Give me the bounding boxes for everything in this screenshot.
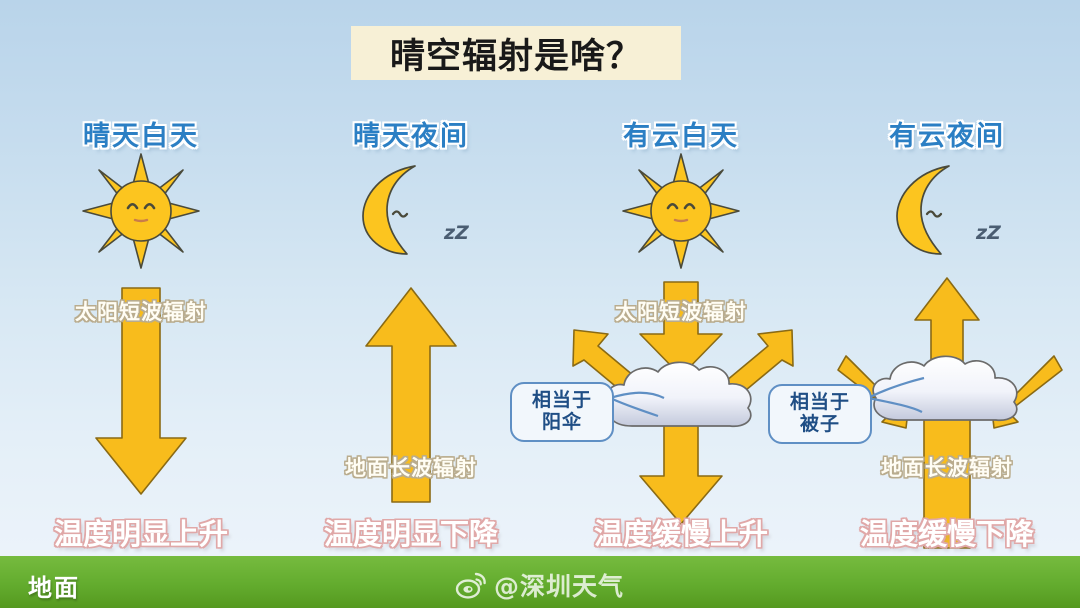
scenario-column-clear-day: 晴天白天 太阳短波辐射 温度明显上升: [6, 100, 276, 555]
page-title: 晴空辐射是啥？: [390, 28, 642, 79]
title-banner: 晴空辐射是啥？: [351, 26, 681, 80]
ground-bar: 地面 @深圳天气: [0, 556, 1080, 608]
watermark: @深圳天气: [0, 567, 1080, 603]
column-footer-temperature: 温度缓慢上升: [546, 511, 816, 553]
crescent-moon-icon: [891, 162, 975, 258]
callout-parasol-pointer: [608, 382, 678, 422]
scenario-column-cloudy-night: 有云夜间 zZ 地面长波辐射 相当于 被子: [812, 100, 1080, 555]
column-header: 晴天夜间: [276, 114, 546, 153]
column-header: 有云白天: [546, 114, 816, 153]
sun-icon: [621, 152, 741, 270]
solar-shortwave-arrow-down: [86, 288, 196, 498]
scenario-column-cloudy-day: 有云白天: [546, 100, 816, 555]
scenario-column-clear-night: 晴天夜间 zZ 地面长波辐射 温度明显下降: [276, 100, 546, 555]
callout-quilt-pointer: [866, 376, 938, 420]
callout-parasol: 相当于 阳伞: [510, 382, 614, 442]
sun-icon: [81, 152, 201, 270]
callout-quilt-text: 相当于 被子: [782, 391, 858, 435]
column-header: 晴天白天: [6, 114, 276, 153]
sleep-zz-text: zZ: [444, 222, 469, 244]
column-footer-temperature: 温度明显下降: [276, 511, 546, 553]
watermark-handle: @深圳天气: [494, 567, 624, 603]
callout-parasol-text: 相当于 阳伞: [524, 389, 600, 433]
column-footer-temperature: 温度明显上升: [6, 511, 276, 553]
callout-quilt: 相当于 被子: [768, 384, 872, 444]
weibo-icon: [456, 572, 487, 599]
ground-longwave-arrow-up: [356, 288, 466, 506]
sleep-zz-text: zZ: [976, 222, 1001, 244]
column-footer-temperature: 温度缓慢下降: [812, 511, 1080, 553]
column-header: 有云夜间: [812, 114, 1080, 153]
crescent-moon-icon: [357, 162, 441, 258]
